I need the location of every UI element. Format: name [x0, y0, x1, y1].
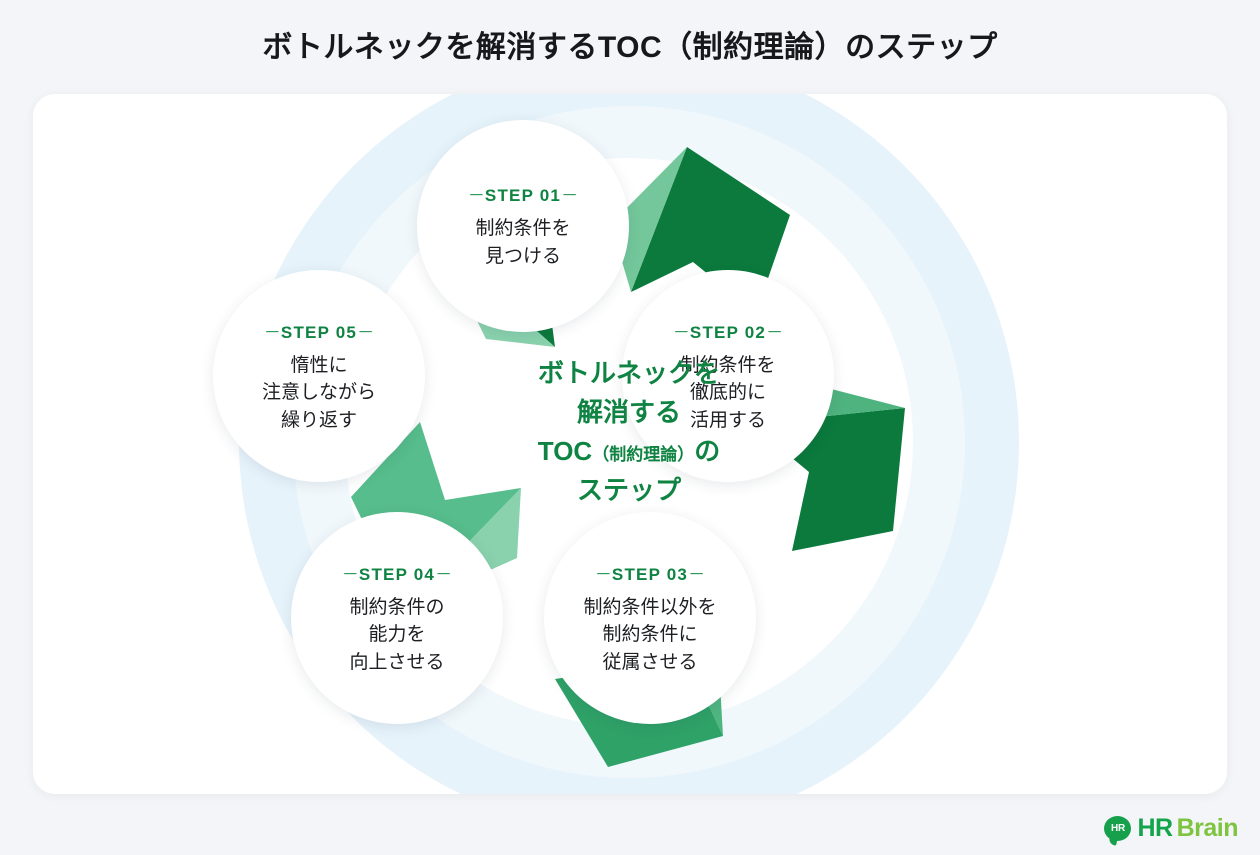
step-05-line-3: 繰り返す — [262, 407, 376, 435]
step-05-label-text: STEP 05 — [281, 323, 357, 342]
step-04-label: －STEP 04－ — [342, 560, 452, 585]
step-01-body: 制約条件を 見つける — [475, 215, 570, 270]
speech-bubble-label: HR — [1111, 823, 1125, 834]
step-01-line-2: 見つける — [475, 243, 570, 271]
center-line-4: ステップ — [433, 471, 825, 510]
center-line-3-no: の — [694, 436, 720, 466]
center-line-1: ボトルネックを — [433, 354, 825, 393]
center-line-3-paren: （制約理論） — [592, 445, 694, 464]
step-03-line-2: 制約条件に — [583, 621, 716, 649]
step-05-label: －STEP 05－ — [264, 318, 374, 343]
center-label: ボトルネックを 解消する TOC（制約理論）の ステップ — [433, 354, 825, 510]
brand-name-hr: HR — [1137, 814, 1172, 843]
step-02-dash-left: － — [673, 323, 690, 342]
step-05-body: 惰性に 注意しながら 繰り返す — [262, 352, 376, 435]
step-05-dash-left: － — [264, 323, 281, 342]
speech-bubble-icon: HR — [1104, 816, 1131, 841]
diagram-card: －STEP 01－ 制約条件を 見つける －STEP 02－ 制約条件を 徹底的… — [33, 94, 1227, 794]
step-circle-01[interactable]: －STEP 01－ 制約条件を 見つける — [417, 120, 629, 332]
step-04-label-text: STEP 04 — [359, 565, 435, 584]
step-04-line-3: 向上させる — [349, 649, 444, 677]
step-04-line-1: 制約条件の — [349, 594, 444, 622]
step-circle-04[interactable]: －STEP 04－ 制約条件の 能力を 向上させる — [291, 512, 503, 724]
step-04-line-2: 能力を — [349, 621, 444, 649]
step-01-label: －STEP 01－ — [468, 181, 578, 206]
step-01-line-1: 制約条件を — [475, 215, 570, 243]
step-03-line-3: 従属させる — [583, 649, 716, 677]
center-line-3-toc: TOC — [538, 436, 592, 466]
step-02-label-text: STEP 02 — [690, 323, 766, 342]
step-05-line-2: 注意しながら — [262, 379, 376, 407]
step-02-label: －STEP 02－ — [673, 318, 783, 343]
center-line-2: 解消する — [433, 393, 825, 432]
step-03-label-text: STEP 03 — [612, 565, 688, 584]
step-01-dash-left: － — [468, 186, 485, 205]
step-03-line-1: 制約条件以外を — [583, 594, 716, 622]
step-01-dash-right: － — [561, 186, 578, 205]
brand-name-brain: Brain — [1177, 814, 1238, 843]
step-04-dash-left: － — [342, 565, 359, 584]
step-03-label: －STEP 03－ — [595, 560, 705, 585]
step-05-dash-right: － — [357, 323, 374, 342]
step-01-label-text: STEP 01 — [485, 186, 561, 205]
step-03-dash-right: － — [688, 565, 705, 584]
step-03-body: 制約条件以外を 制約条件に 従属させる — [583, 594, 716, 677]
page-title: ボトルネックを解消するTOC（制約理論）のステップ — [0, 22, 1260, 66]
step-04-body: 制約条件の 能力を 向上させる — [349, 594, 444, 677]
step-circle-03[interactable]: －STEP 03－ 制約条件以外を 制約条件に 従属させる — [544, 512, 756, 724]
step-03-dash-left: － — [595, 565, 612, 584]
step-02-dash-right: － — [766, 323, 783, 342]
step-05-line-1: 惰性に — [262, 352, 376, 380]
step-04-dash-right: － — [435, 565, 452, 584]
hrbrain-logo: HR HRBrain — [1104, 814, 1238, 843]
center-line-3: TOC（制約理論）の — [433, 432, 825, 471]
step-circle-05[interactable]: －STEP 05－ 惰性に 注意しながら 繰り返す — [213, 270, 425, 482]
